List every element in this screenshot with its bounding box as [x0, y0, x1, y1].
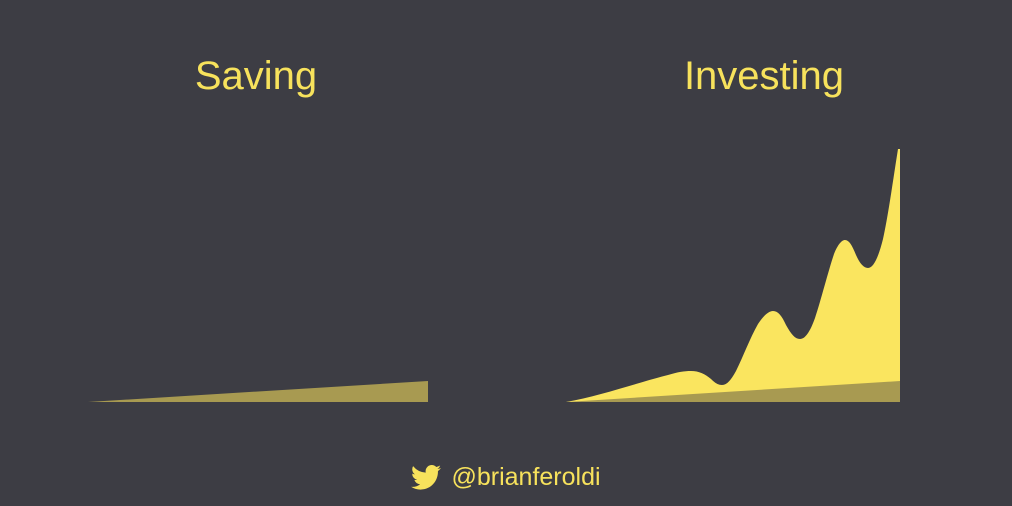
saving-principal-area: [88, 381, 428, 402]
investing-portfolio-area: [566, 149, 900, 402]
footer-attribution: @brianferoldi: [0, 460, 1012, 494]
twitter-handle-label: @brianferoldi: [451, 462, 600, 492]
charts-area: [0, 0, 1012, 506]
poster-canvas: Saving Investing @brianferoldi: [0, 0, 1012, 506]
twitter-bird-icon[interactable]: [411, 465, 441, 490]
